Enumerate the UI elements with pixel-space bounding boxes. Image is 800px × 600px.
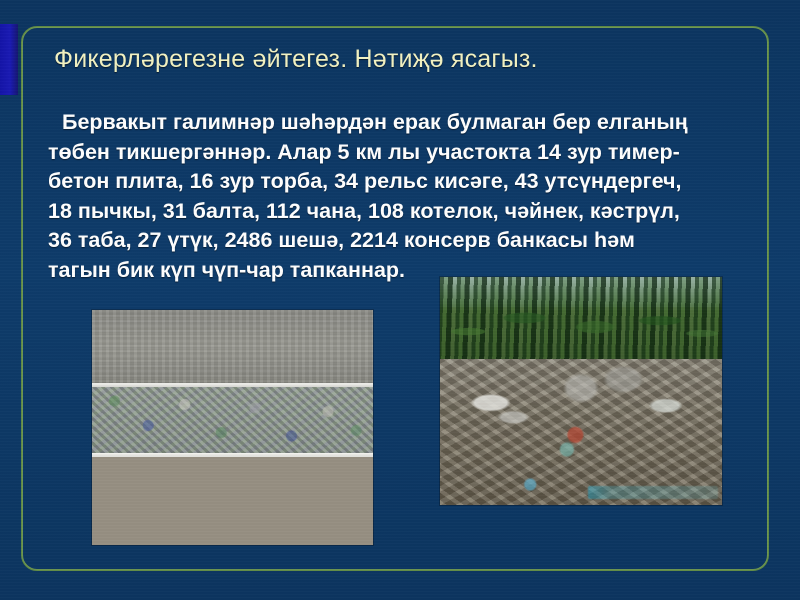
photo-left-plastic-band [92, 457, 373, 545]
body-line-4: 18 пычкы, 31 балта, 112 чана, 108 котело… [48, 197, 760, 227]
accent-block [0, 24, 18, 95]
body-line-2: төбен тикшергәннәр. Алар 5 км лы участок… [48, 138, 760, 168]
slide-title: Фикерләрегезне әйтегез. Нәтиҗә ясагыз. [54, 44, 754, 74]
plastic-waste-photo [92, 310, 373, 545]
photo-left-sky-band [92, 310, 373, 383]
photo-watermark [588, 486, 718, 499]
photo-right-rubble-pile [440, 359, 722, 505]
body-line-5: 36 таба, 27 үтүк, 2486 шешә, 2214 консер… [48, 226, 760, 256]
slide-body-text: Бервакыт галимнәр шәһәрдән ерак булмаган… [48, 108, 760, 285]
landfill-photo [440, 277, 722, 505]
presentation-slide: Фикерләрегезне әйтегез. Нәтиҗә ясагыз. Б… [0, 0, 800, 600]
body-line-1: Бервакыт галимнәр шәһәрдән ерак булмаган… [48, 108, 760, 138]
body-line-3: бетон плита, 16 зур торба, 34 рельс кисә… [48, 167, 760, 197]
photo-right-birch-forest [440, 277, 722, 368]
photo-left-debris-band [92, 387, 373, 458]
